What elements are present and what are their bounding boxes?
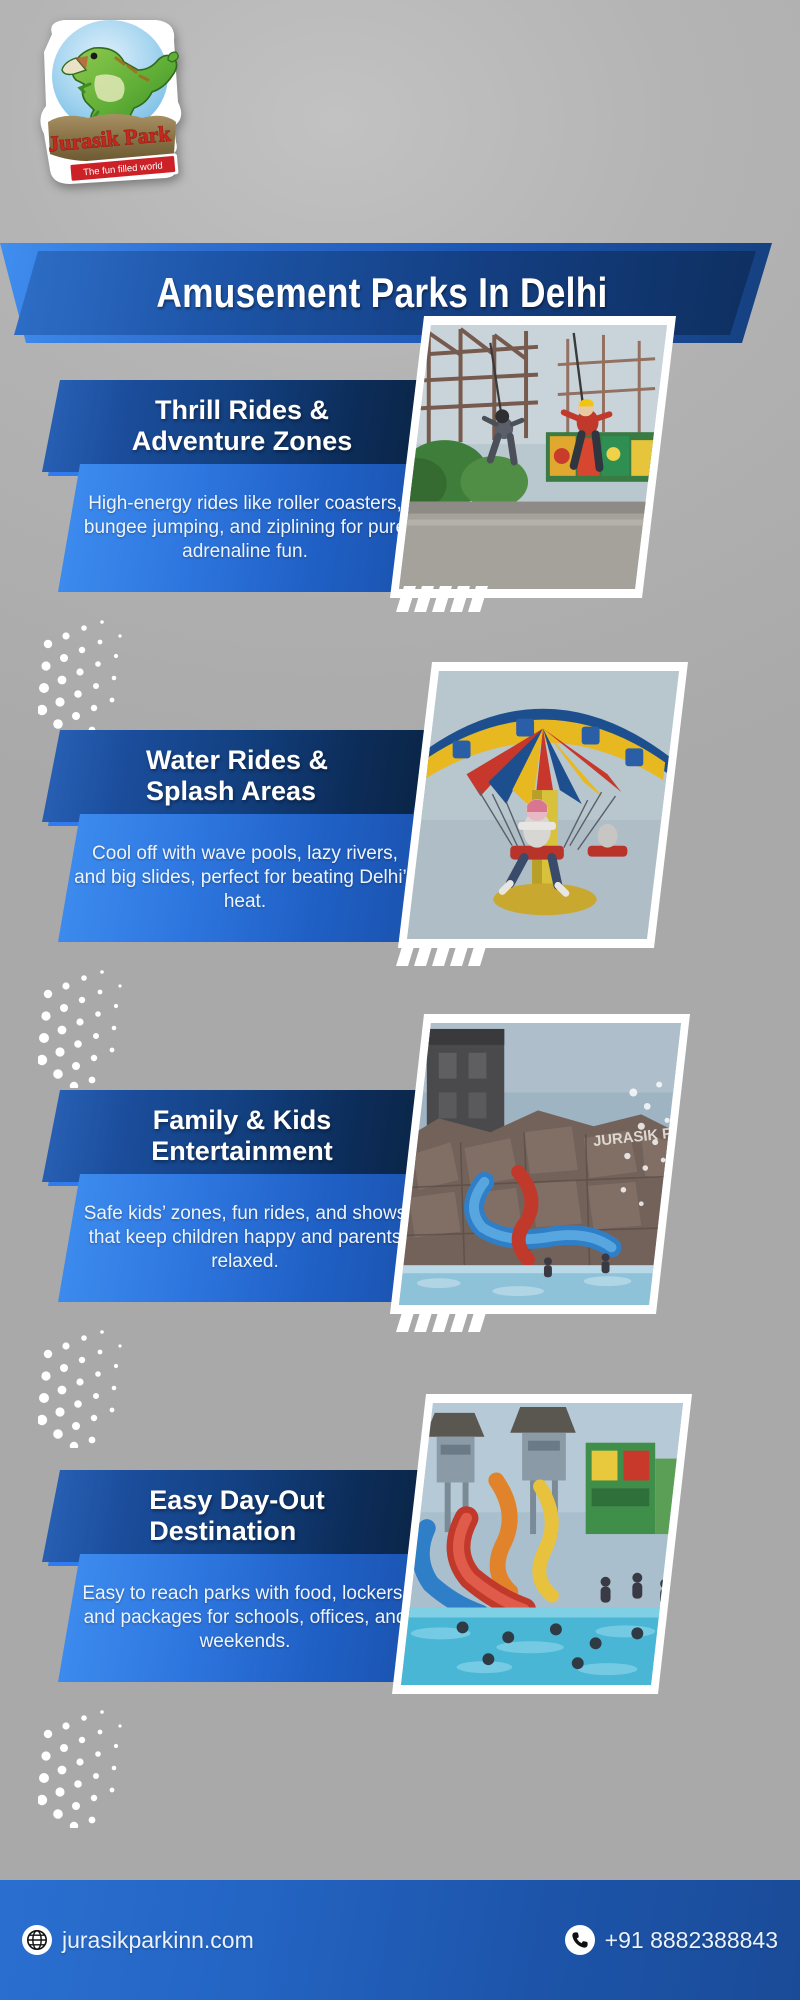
card-photo (390, 316, 676, 598)
card-body-band: Easy to reach parks with food, lockers, … (58, 1554, 432, 1682)
card-title-line1: Easy Day-Out (149, 1485, 325, 1516)
card-title: Easy Day-Out Destination (149, 1485, 325, 1547)
photo-water-slides-pool (401, 1403, 683, 1685)
card-photo (398, 662, 688, 948)
card-title-line2: Splash Areas (146, 776, 328, 807)
card-body-text: High-energy rides like roller coasters, … (58, 464, 432, 592)
logo: Jurasik Park The fun filled world (24, 14, 202, 194)
card-title-band: Family & Kids Entertainment (42, 1090, 428, 1182)
card-thrill-rides: Thrill Rides & Adventure Zones High-ener… (0, 380, 800, 710)
card-easy-day-out: Easy Day-Out Destination Easy to reach p… (0, 1470, 800, 1800)
card-photo: JURASIK PARK (390, 1014, 690, 1314)
card-title: Thrill Rides & Adventure Zones (132, 395, 353, 457)
footer-website-text: jurasikparkinn.com (62, 1927, 254, 1954)
card-photo (392, 1394, 692, 1694)
card-title-band: Water Rides & Splash Areas (42, 730, 428, 822)
card-body-text: Cool off with wave pools, lazy rivers, a… (58, 814, 432, 942)
card-body-band: Safe kids’ zones, fun rides, and shows t… (58, 1174, 432, 1302)
footer-phone-text: +91 8882388843 (605, 1927, 778, 1954)
card-title-line1: Thrill Rides & (132, 395, 353, 426)
card-title-line1: Water Rides & (146, 745, 328, 776)
photo-swing-carousel (407, 671, 679, 939)
phone-icon (565, 1925, 595, 1955)
footer-phone[interactable]: +91 8882388843 (565, 1925, 778, 1955)
card-body-text: Safe kids’ zones, fun rides, and shows t… (58, 1174, 432, 1302)
card-title: Family & Kids Entertainment (151, 1105, 333, 1167)
card-title-band: Thrill Rides & Adventure Zones (42, 380, 428, 472)
card-title-line2: Adventure Zones (132, 426, 353, 457)
card-body-text: Easy to reach parks with food, lockers, … (58, 1554, 432, 1682)
card-title: Water Rides & Splash Areas (146, 745, 328, 807)
photo-rock-waterpark: JURASIK PARK (399, 1023, 681, 1305)
card-family-kids: Family & Kids Entertainment Safe kids’ z… (0, 1090, 800, 1420)
footer-website[interactable]: jurasikparkinn.com (22, 1925, 254, 1955)
card-body-band: Cool off with wave pools, lazy rivers, a… (58, 814, 432, 942)
jurasik-park-logo-icon: Jurasik Park The fun filled world (24, 14, 202, 194)
card-body-band: High-energy rides like roller coasters, … (58, 464, 432, 592)
card-water-rides: Water Rides & Splash Areas Cool off with… (0, 730, 800, 1060)
card-title-line1: Family & Kids (151, 1105, 333, 1136)
card-title-band: Easy Day-Out Destination (42, 1470, 428, 1562)
photo-bungee-ride (399, 325, 667, 589)
infographic-poster: Jurasik Park The fun filled world Amusem… (0, 0, 800, 2000)
globe-icon (22, 1925, 52, 1955)
card-title-line2: Destination (149, 1516, 325, 1547)
card-title-line2: Entertainment (151, 1136, 333, 1167)
footer-bar: jurasikparkinn.com +91 8882388843 (0, 1880, 800, 2000)
